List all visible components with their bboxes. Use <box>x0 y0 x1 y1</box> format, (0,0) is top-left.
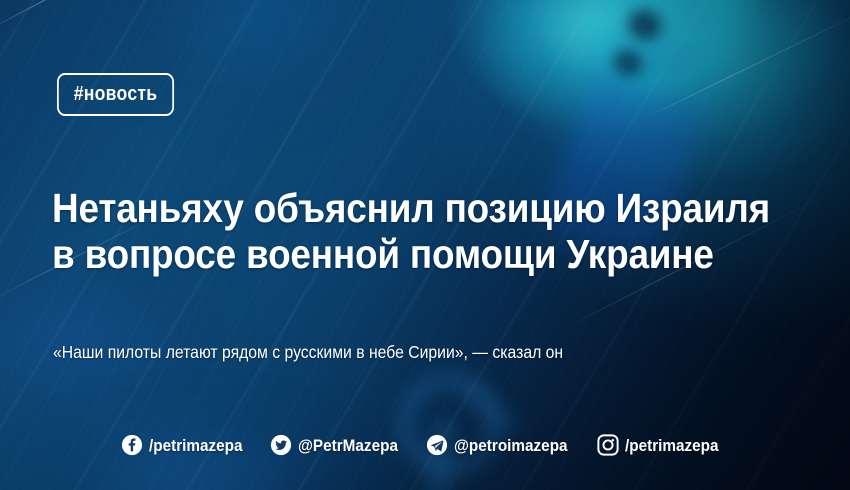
social-handle-facebook: /petrimazepa <box>149 437 243 454</box>
headline-line-1: Нетаньяху объяснил позицию Израиля <box>52 186 682 232</box>
social-link-facebook[interactable]: /petrimazepa <box>121 434 253 456</box>
facebook-icon <box>121 434 143 456</box>
subtitle: «Наши пилоты летают рядом с русскими в н… <box>53 342 563 363</box>
telegram-icon <box>426 434 448 456</box>
social-link-instagram[interactable]: /petrimazepa <box>597 434 729 456</box>
page-title: Нетаньяху объяснил позицию Израиля в воп… <box>52 186 682 278</box>
social-handle-instagram: /petrimazepa <box>625 437 719 454</box>
social-handle-telegram: @petroimazepa <box>454 437 568 454</box>
news-card: #новость Нетаньяху объяснил позицию Изра… <box>0 0 850 490</box>
social-link-telegram[interactable]: @petroimazepa <box>426 434 580 456</box>
headline-line-2: в вопросе военной помощи Украине <box>52 232 682 278</box>
social-handle-twitter: @PetrMazepa <box>298 437 398 454</box>
twitter-icon <box>270 434 292 456</box>
instagram-icon <box>597 434 619 456</box>
social-bar: /petrimazepa @PetrMazepa @petroimazepa <box>0 434 850 456</box>
social-link-twitter[interactable]: @PetrMazepa <box>270 434 409 456</box>
hashtag-badge[interactable]: #новость <box>57 73 174 116</box>
